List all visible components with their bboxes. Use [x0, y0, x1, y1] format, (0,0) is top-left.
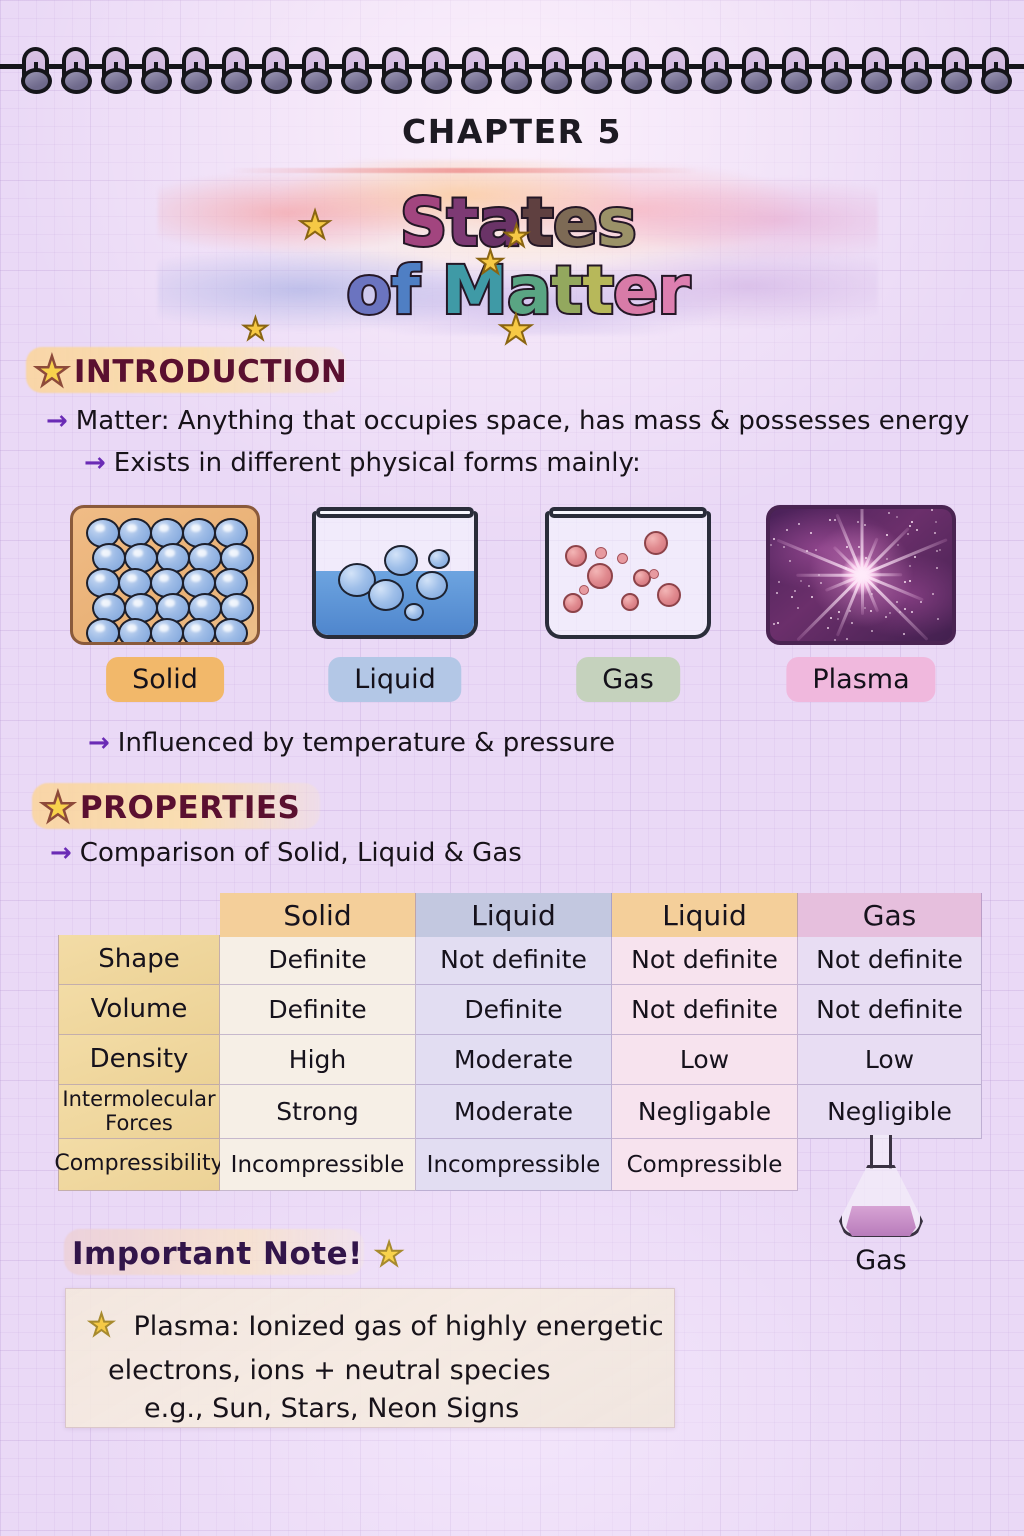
plasma-spark	[870, 610, 872, 612]
plasma-spark	[897, 544, 899, 546]
spiral-ring	[701, 68, 732, 94]
table-row-header: Compressibility	[58, 1139, 220, 1191]
gas-molecule-small	[579, 585, 589, 595]
spiral-ring	[541, 68, 572, 94]
plasma-spark	[934, 532, 936, 534]
plasma-spark	[937, 618, 939, 620]
plasma-spark	[834, 519, 836, 521]
plasma-spark	[770, 544, 772, 546]
plasma-spark	[773, 538, 775, 540]
plasma-spark	[904, 608, 906, 610]
table-cell: Compressible	[612, 1139, 798, 1191]
spiral-ring	[941, 68, 972, 94]
properties-subtitle-text: Comparison of Solid, Liquid & Gas	[80, 838, 522, 868]
table-row-header: Shape	[58, 935, 220, 985]
table-cell: Moderate	[416, 1085, 612, 1139]
table-cell: Not definite	[798, 935, 982, 985]
plasma-spark	[789, 560, 791, 562]
plasma-spark	[909, 525, 911, 527]
plasma-spark	[786, 529, 788, 531]
bubble-icon	[404, 603, 424, 621]
plasma-spark	[871, 630, 873, 632]
plasma-ray	[861, 505, 864, 575]
plasma-spark	[885, 616, 887, 618]
plasma-spark	[909, 580, 911, 582]
spiral-ring	[661, 68, 692, 94]
bubble-icon	[416, 571, 448, 600]
properties-heading: ★ PROPERTIES	[40, 786, 300, 830]
intro-line-3-text: Influenced by temperature & pressure	[118, 728, 615, 758]
state-label-liquid: Liquid	[328, 657, 461, 702]
table-row-header: IntermolecularForces	[58, 1085, 220, 1139]
star-icon: ★	[375, 1238, 404, 1270]
plasma-spark	[783, 546, 785, 548]
table-cell: Not definite	[612, 985, 798, 1035]
gas-molecule	[657, 583, 681, 607]
table-cell: Not definite	[416, 935, 612, 985]
table-cell: Incompressible	[416, 1139, 612, 1191]
table-column-header: Liquid	[416, 893, 612, 937]
spiral-ring	[581, 68, 612, 94]
plasma-spark	[818, 574, 820, 576]
plasma-ray	[796, 574, 863, 641]
plasma-spark	[911, 521, 913, 523]
spiral-ring	[101, 68, 132, 94]
table-cell: Not definite	[798, 985, 982, 1035]
flask-icon	[833, 1135, 929, 1239]
lattice-particle	[118, 618, 152, 645]
intro-line-1-text: Matter: Anything that occupies space, ha…	[76, 406, 970, 436]
plasma-illustration	[766, 505, 956, 645]
plasma-spark	[907, 533, 909, 535]
note-line-2: electrons, ions + neutral species	[108, 1355, 551, 1386]
table-cell: Not definite	[612, 935, 798, 985]
note-line-3: e.g., Sun, Stars, Neon Signs	[144, 1393, 519, 1424]
gas-molecule-small	[595, 547, 607, 559]
plasma-ray	[796, 574, 862, 577]
plasma-spark	[810, 532, 812, 534]
table-row: ShapeDefiniteNot definiteNot definiteNot…	[58, 935, 982, 985]
plasma-spark	[931, 509, 933, 511]
plasma-spark	[932, 593, 934, 595]
spiral-ring	[261, 68, 292, 94]
plasma-spark	[904, 581, 906, 583]
plasma-spark	[811, 596, 813, 598]
spiral-ring	[861, 68, 892, 94]
spiral-ring	[461, 68, 492, 94]
table-row-header: Volume	[58, 985, 220, 1035]
plasma-spark	[939, 549, 941, 551]
plasma-spark	[911, 611, 913, 613]
table-cell: Incompressible	[220, 1139, 416, 1191]
plasma-spark	[794, 590, 796, 592]
spiral-ring	[381, 68, 412, 94]
intro-line-3: →Influenced by temperature & pressure	[88, 728, 615, 758]
plasma-spark	[778, 581, 780, 583]
plasma-spark	[886, 534, 888, 536]
gas-molecule-small	[649, 569, 659, 579]
plasma-spark	[849, 610, 851, 612]
intro-line-2: →Exists in different physical forms main…	[84, 448, 641, 478]
spiral-binding	[0, 0, 1024, 95]
star-icon: ★	[34, 352, 70, 392]
table-cell: Negligible	[798, 1085, 982, 1139]
gas-molecule	[621, 593, 639, 611]
spiral-ring	[341, 68, 372, 94]
spiral-ring	[301, 68, 332, 94]
plasma-spark	[886, 558, 888, 560]
plasma-spark	[773, 623, 775, 625]
bubble-icon	[384, 545, 418, 576]
table-row: DensityHighModerateLowLow	[58, 1035, 982, 1085]
table-row: VolumeDefiniteDefiniteNot definiteNot de…	[58, 985, 982, 1035]
gas-flask-illustration: Gas	[826, 1135, 936, 1275]
plasma-spark	[815, 549, 817, 551]
plasma-spark	[834, 639, 836, 641]
gas-molecule	[563, 593, 583, 613]
spiral-ring	[821, 68, 852, 94]
table-cell: Negligable	[612, 1085, 798, 1139]
lattice-particle	[86, 618, 120, 645]
star-icon: ★	[242, 315, 269, 345]
arrow-icon: →	[88, 728, 110, 758]
plasma-spark	[846, 546, 848, 548]
star-icon: ★	[498, 310, 534, 350]
spiral-ring	[181, 68, 212, 94]
important-note-box: ★ Plasma: Ionized gas of highly energeti…	[65, 1288, 675, 1428]
liquid-beaker-illustration	[300, 505, 490, 645]
beaker-shape	[312, 511, 478, 639]
plasma-spark	[871, 593, 873, 595]
plasma-spark	[820, 582, 822, 584]
table-cell: Definite	[220, 985, 416, 1035]
plasma-spark	[829, 519, 831, 521]
table-column-header: Gas	[798, 893, 982, 937]
plasma-spark	[888, 512, 890, 514]
state-label-solid: Solid	[106, 657, 224, 702]
spiral-ring	[221, 68, 252, 94]
table-cell: Strong	[220, 1085, 416, 1139]
table-cell: Low	[612, 1035, 798, 1085]
gas-beaker-illustration	[533, 505, 723, 645]
important-note-heading-text: Important Note!	[72, 1236, 363, 1272]
plasma-spark	[896, 516, 898, 518]
intro-line-1: →Matter: Anything that occupies space, h…	[46, 406, 969, 436]
note-line-1-text: Plasma: Ionized gas of highly energetic	[134, 1311, 664, 1342]
table-header-row: SolidLiquidLiquidGas	[220, 893, 982, 937]
plasma-spark	[858, 546, 860, 548]
plasma-spark	[909, 565, 911, 567]
spiral-ring	[61, 68, 92, 94]
lattice-particle	[150, 618, 184, 645]
properties-heading-text: PROPERTIES	[80, 790, 301, 826]
table-cell: High	[220, 1035, 416, 1085]
plasma-spark	[830, 617, 832, 619]
properties-subtitle: →Comparison of Solid, Liquid & Gas	[50, 838, 522, 868]
table-cell: Definite	[416, 985, 612, 1035]
state-label-gas: Gas	[576, 657, 680, 702]
plasma-spark	[935, 521, 937, 523]
spiral-ring	[741, 68, 772, 94]
table-cell: Low	[798, 1035, 982, 1085]
spiral-ring	[621, 68, 652, 94]
table-row: IntermolecularForcesStrongModerateNeglig…	[58, 1085, 982, 1139]
spiral-ring	[981, 68, 1012, 94]
plasma-spark	[936, 550, 938, 552]
important-note-heading: Important Note! ★	[72, 1232, 403, 1276]
introduction-heading-text: INTRODUCTION	[74, 354, 347, 390]
solid-lattice-illustration	[70, 505, 260, 645]
plasma-spark	[838, 611, 840, 613]
star-icon: ★	[298, 206, 332, 244]
wash-streak	[228, 168, 698, 173]
bubble-icon	[428, 549, 450, 569]
spiral-ring	[901, 68, 932, 94]
plasma-spark	[827, 627, 829, 629]
beaker-shape	[545, 511, 711, 639]
plasma-spark	[896, 601, 898, 603]
plasma-spark	[776, 592, 778, 594]
gas-molecule	[587, 563, 613, 589]
spiral-ring	[21, 68, 52, 94]
table-row-header: Density	[58, 1035, 220, 1085]
title-banner: States of Matter ★ ★ ★ ★ ★	[158, 160, 878, 335]
plasma-spark	[846, 638, 848, 640]
star-icon: ★	[476, 246, 505, 278]
gas-molecule	[565, 545, 587, 567]
plasma-spark	[777, 622, 779, 624]
plasma-spark	[864, 607, 866, 609]
plasma-spark	[798, 523, 800, 525]
bubble-icon	[368, 579, 404, 611]
star-icon: ★	[88, 1308, 115, 1343]
arrow-icon: →	[46, 406, 68, 436]
plasma-glow	[770, 509, 952, 641]
beaker-rim	[549, 507, 707, 518]
plasma-spark	[851, 622, 853, 624]
chapter-label: CHAPTER 5	[0, 112, 1024, 151]
star-icon: ★	[40, 788, 76, 828]
plasma-spark	[797, 607, 799, 609]
star-icon: ★	[503, 222, 530, 252]
gas-molecule-small	[617, 553, 628, 564]
arrow-icon: →	[50, 838, 72, 868]
spiral-ring	[141, 68, 172, 94]
table-column-header: Solid	[220, 893, 416, 937]
table-cell: Definite	[220, 935, 416, 985]
plasma-spark	[864, 524, 866, 526]
plasma-spark	[916, 529, 918, 531]
plasma-spark	[903, 633, 905, 635]
introduction-heading: ★ INTRODUCTION	[34, 350, 347, 394]
spiral-ring	[501, 68, 532, 94]
arrow-icon: →	[84, 448, 106, 478]
gas-molecule	[644, 531, 668, 555]
table-column-header: Liquid	[612, 893, 798, 937]
flask-liquid	[843, 1206, 919, 1236]
state-label-plasma: Plasma	[786, 657, 935, 702]
plasma-spark	[808, 585, 810, 587]
flask-label: Gas	[826, 1245, 936, 1276]
plasma-spark	[800, 580, 802, 582]
note-star-row: ★ Plasma: Ionized gas of highly energeti…	[88, 1311, 664, 1342]
intro-line-2-text: Exists in different physical forms mainl…	[114, 448, 641, 478]
spiral-ring	[781, 68, 812, 94]
beaker-rim	[316, 507, 474, 518]
lattice-particle	[214, 618, 248, 645]
plasma-spark	[791, 596, 793, 598]
table-cell: Moderate	[416, 1035, 612, 1085]
plasma-spark	[936, 567, 938, 569]
plasma-spark	[899, 611, 901, 613]
plasma-spark	[837, 618, 839, 620]
plasma-spark	[889, 612, 891, 614]
plasma-spark	[914, 556, 916, 558]
flask-neck	[870, 1135, 892, 1169]
spiral-ring	[421, 68, 452, 94]
lattice-particle	[182, 618, 216, 645]
plasma-spark	[857, 521, 859, 523]
